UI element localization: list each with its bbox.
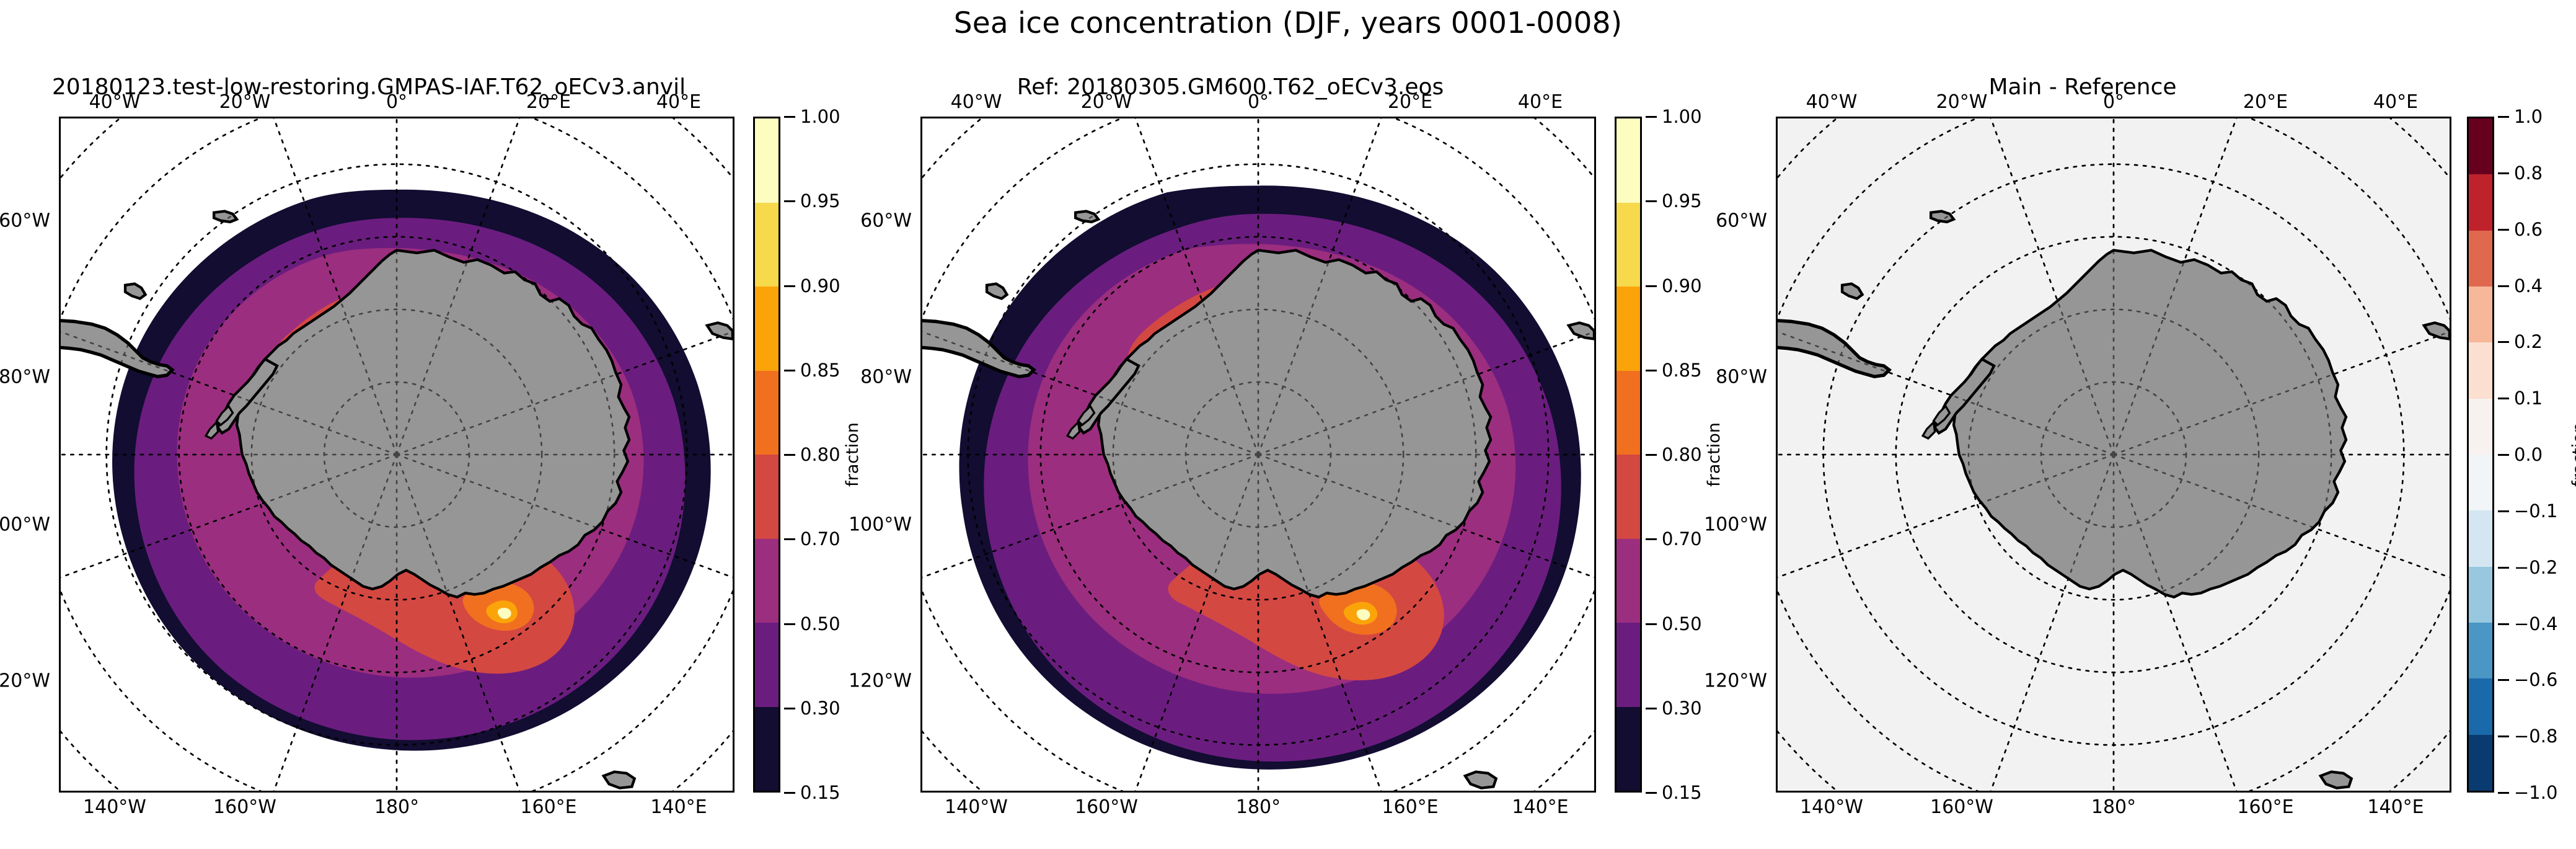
lon-label-left-1: 80°W — [1716, 367, 1767, 388]
lon-label-top-0: 40°W — [951, 91, 1002, 113]
colorbar-band-5 — [1617, 539, 1640, 623]
colorbar-band-7 — [1617, 707, 1640, 791]
panel-diff-map[interactable]: 40°W 20°W 0° 20°E 40°E 140°W 160°W 180° … — [1776, 117, 2451, 793]
lon-label-top-1: 20°W — [1936, 91, 1988, 113]
colorbar-tick-7 — [1646, 708, 1657, 709]
lon-label-left-1: 80°W — [860, 367, 912, 388]
colorbar-tick-8 — [784, 792, 795, 794]
lon-label-left-2: 100°W — [1704, 514, 1767, 536]
colorbar-tick-0 — [784, 116, 795, 118]
colorbar-tick-6 — [2498, 454, 2509, 456]
colorbar-tick-4 — [1646, 454, 1657, 456]
lon-label-bottom-0: 140°W — [945, 796, 1008, 818]
colorbar-ticklabel-0: 1.0 — [2514, 106, 2543, 127]
lon-label-bottom-1: 160°W — [213, 796, 276, 818]
colorbar-tick-0 — [2498, 116, 2509, 118]
lon-label-left-1: 80°W — [0, 367, 50, 388]
colorbar-diff-strip — [2467, 117, 2494, 793]
lon-label-bottom-1: 160°W — [1075, 796, 1138, 818]
colorbar-band-6 — [2469, 455, 2492, 510]
lon-label-top-2: 0° — [2103, 91, 2124, 113]
map-axes-diff — [1776, 117, 2451, 793]
lon-label-bottom-3: 160°E — [520, 796, 576, 818]
colorbar-tick-1 — [784, 200, 795, 202]
colorbar-ref-strip — [1615, 117, 1642, 793]
colorbar-ticklabel-6: 0.50 — [1662, 613, 1702, 634]
colorbar-band-1 — [2469, 174, 2492, 230]
lon-label-top-3: 20°E — [1388, 91, 1432, 113]
colorbar-ticklabel-12: −1.0 — [2514, 782, 2557, 803]
colorbar-tick-7 — [784, 708, 795, 709]
colorbar-ticklabel-11: −0.8 — [2514, 726, 2557, 747]
lon-label-top-4: 40°E — [1518, 91, 1563, 113]
colorbar-band-3 — [755, 371, 779, 455]
colorbar-tick-7 — [2498, 510, 2509, 512]
colorbar-tick-9 — [2498, 623, 2509, 625]
panel-main-map[interactable]: 40°W 20°W 0° 20°E 40°E 140°W 160°W 180° … — [59, 117, 734, 793]
colorbar-ticklabel-2: 0.6 — [2514, 219, 2543, 240]
colorbar-ticklabel-4: 0.80 — [1662, 444, 1702, 465]
colorbar-band-2 — [755, 287, 779, 371]
colorbar-ticklabel-10: −0.6 — [2514, 669, 2557, 690]
colorbar-band-6 — [755, 623, 779, 707]
colorbar-tick-3 — [2498, 285, 2509, 287]
lon-label-top-3: 20°E — [2243, 91, 2288, 113]
colorbar-band-2 — [1617, 287, 1640, 371]
colorbar-tick-4 — [2498, 341, 2509, 343]
colorbar-ticklabel-3: 0.85 — [800, 360, 840, 381]
lon-label-top-1: 20°W — [219, 91, 271, 113]
colorbar-tick-6 — [784, 623, 795, 625]
lon-label-bottom-4: 140°E — [1512, 796, 1568, 818]
map-axes-main — [59, 117, 734, 793]
colorbar-diff-label: fraction — [2569, 422, 2576, 487]
colorbar-tick-2 — [2498, 229, 2509, 231]
lon-label-top-0: 40°W — [89, 91, 141, 113]
colorbar-band-3 — [1617, 371, 1640, 455]
colorbar-tick-8 — [2498, 567, 2509, 569]
colorbar-tick-12 — [2498, 792, 2509, 794]
colorbar-ticklabel-4: 0.80 — [800, 444, 840, 465]
figure-title: Sea ice concentration (DJF, years 0001-0… — [0, 6, 2576, 40]
colorbar-ticklabel-8: 0.15 — [1662, 782, 1702, 803]
lon-label-top-2: 0° — [1248, 91, 1269, 113]
lon-label-bottom-4: 140°E — [2367, 796, 2424, 818]
colorbar-band-2 — [2469, 231, 2492, 287]
lon-label-bottom-2: 180° — [1236, 796, 1281, 818]
colorbar-ticklabel-3: 0.85 — [1662, 360, 1702, 381]
colorbar-band-4 — [2469, 342, 2492, 398]
lon-label-left-3: 120°W — [0, 670, 50, 692]
colorbar-ticklabel-7: 0.30 — [1662, 698, 1702, 719]
lon-label-left-0: 60°W — [860, 210, 912, 232]
colorbar-tick-8 — [1646, 792, 1657, 794]
colorbar-ticklabel-5: 0.70 — [800, 528, 840, 549]
lon-label-left-3: 120°W — [1704, 670, 1767, 692]
lon-label-bottom-0: 140°W — [1800, 796, 1863, 818]
colorbar-band-5 — [755, 539, 779, 623]
colorbar-tick-3 — [1646, 370, 1657, 371]
colorbar-tick-10 — [2498, 679, 2509, 681]
colorbar-ticklabel-2: 0.90 — [800, 275, 840, 296]
colorbar-ticklabel-1: 0.8 — [2514, 162, 2543, 184]
lon-label-left-2: 100°W — [849, 514, 912, 536]
colorbar-band-8 — [2469, 567, 2492, 623]
lon-label-top-4: 40°E — [656, 91, 701, 113]
antarctica-diff — [1923, 250, 2346, 597]
lon-label-left-0: 60°W — [0, 210, 50, 232]
lon-label-left-3: 120°W — [849, 670, 912, 692]
colorbar-ticklabel-4: 0.2 — [2514, 331, 2543, 352]
colorbar-tick-4 — [784, 454, 795, 456]
colorbar-band-4 — [1617, 455, 1640, 539]
colorbar-ticklabel-8: −0.2 — [2514, 557, 2557, 578]
colorbar-band-0 — [2469, 118, 2492, 174]
lon-label-top-2: 0° — [386, 91, 407, 113]
colorbar-tick-5 — [784, 538, 795, 540]
colorbar-ticklabel-0: 1.00 — [800, 106, 840, 127]
colorbar-tick-1 — [1646, 200, 1657, 202]
colorbar-ticklabel-6: 0.0 — [2514, 444, 2543, 465]
colorbar-ticklabel-0: 1.00 — [1662, 106, 1702, 127]
colorbar-tick-6 — [1646, 623, 1657, 625]
colorbar-ticklabel-1: 0.95 — [800, 190, 840, 211]
lon-label-bottom-4: 140°E — [650, 796, 707, 818]
lon-label-bottom-3: 160°E — [2237, 796, 2293, 818]
panel-ref-map[interactable]: 40°W 20°W 0° 20°E 40°E 140°W 160°W 180° … — [920, 117, 1596, 793]
colorbar-tick-1 — [2498, 172, 2509, 174]
panel-diff: Main - Reference 40°W 20°W 0° 20°E 40°E … — [1723, 74, 2576, 849]
colorbar-band-0 — [1617, 118, 1640, 203]
colorbar-ticklabel-5: 0.70 — [1662, 528, 1702, 549]
colorbar-band-7 — [2469, 510, 2492, 566]
colorbar-ticklabel-5: 0.1 — [2514, 388, 2543, 409]
colorbar-tick-3 — [784, 370, 795, 371]
colorbar-ticklabel-9: −0.4 — [2514, 613, 2557, 634]
lon-label-top-0: 40°W — [1806, 91, 1858, 113]
colorbar-band-7 — [755, 707, 779, 791]
lon-label-bottom-0: 140°W — [83, 796, 146, 818]
lon-label-left-0: 60°W — [1716, 210, 1767, 232]
colorbar-band-10 — [2469, 678, 2492, 734]
colorbar-tick-2 — [784, 285, 795, 287]
lon-label-left-2: 100°W — [0, 514, 50, 536]
colorbar-tick-5 — [1646, 538, 1657, 540]
colorbar-tick-2 — [1646, 285, 1657, 287]
colorbar-band-9 — [2469, 623, 2492, 678]
colorbar-ticklabel-6: 0.50 — [800, 613, 840, 634]
colorbar-ticklabel-3: 0.4 — [2514, 275, 2543, 296]
lon-label-top-1: 20°W — [1081, 91, 1132, 113]
colorbar-band-5 — [2469, 399, 2492, 455]
colorbar-band-3 — [2469, 287, 2492, 342]
colorbar-ticklabel-1: 0.95 — [1662, 190, 1702, 211]
colorbar-tick-5 — [2498, 398, 2509, 399]
lon-label-bottom-3: 160°E — [1382, 796, 1438, 818]
colorbar-ref-label: fraction — [1705, 422, 1724, 487]
colorbar-band-1 — [1617, 203, 1640, 287]
colorbar-main-label: fraction — [843, 422, 862, 487]
colorbar-ticklabel-7: 0.30 — [800, 698, 840, 719]
lon-label-bottom-2: 180° — [2091, 796, 2136, 818]
colorbar-ticklabel-7: −0.1 — [2514, 500, 2557, 522]
colorbar-band-6 — [1617, 623, 1640, 707]
colorbar-band-11 — [2469, 735, 2492, 791]
colorbar-ticklabel-2: 0.90 — [1662, 275, 1702, 296]
panel-ref: Ref: 20180305.GM600.T62_oECv3.eos — [862, 74, 1723, 849]
panel-main: 20180123.test-low-restoring.GMPAS-IAF.T6… — [0, 74, 862, 849]
map-axes-ref — [920, 117, 1596, 793]
colorbar-main-strip — [753, 117, 780, 793]
colorbar-tick-11 — [2498, 736, 2509, 737]
colorbar-band-4 — [755, 455, 779, 539]
colorbar-ticklabel-8: 0.15 — [800, 782, 840, 803]
lon-label-bottom-1: 160°W — [1930, 796, 1993, 818]
colorbar-band-1 — [755, 203, 779, 287]
lon-label-top-3: 20°E — [526, 91, 571, 113]
lon-label-top-4: 40°E — [2373, 91, 2418, 113]
figure-root: Sea ice concentration (DJF, years 0001-0… — [0, 0, 2576, 849]
colorbar-tick-0 — [1646, 116, 1657, 118]
lon-label-bottom-2: 180° — [374, 796, 419, 818]
colorbar-band-0 — [755, 118, 779, 203]
